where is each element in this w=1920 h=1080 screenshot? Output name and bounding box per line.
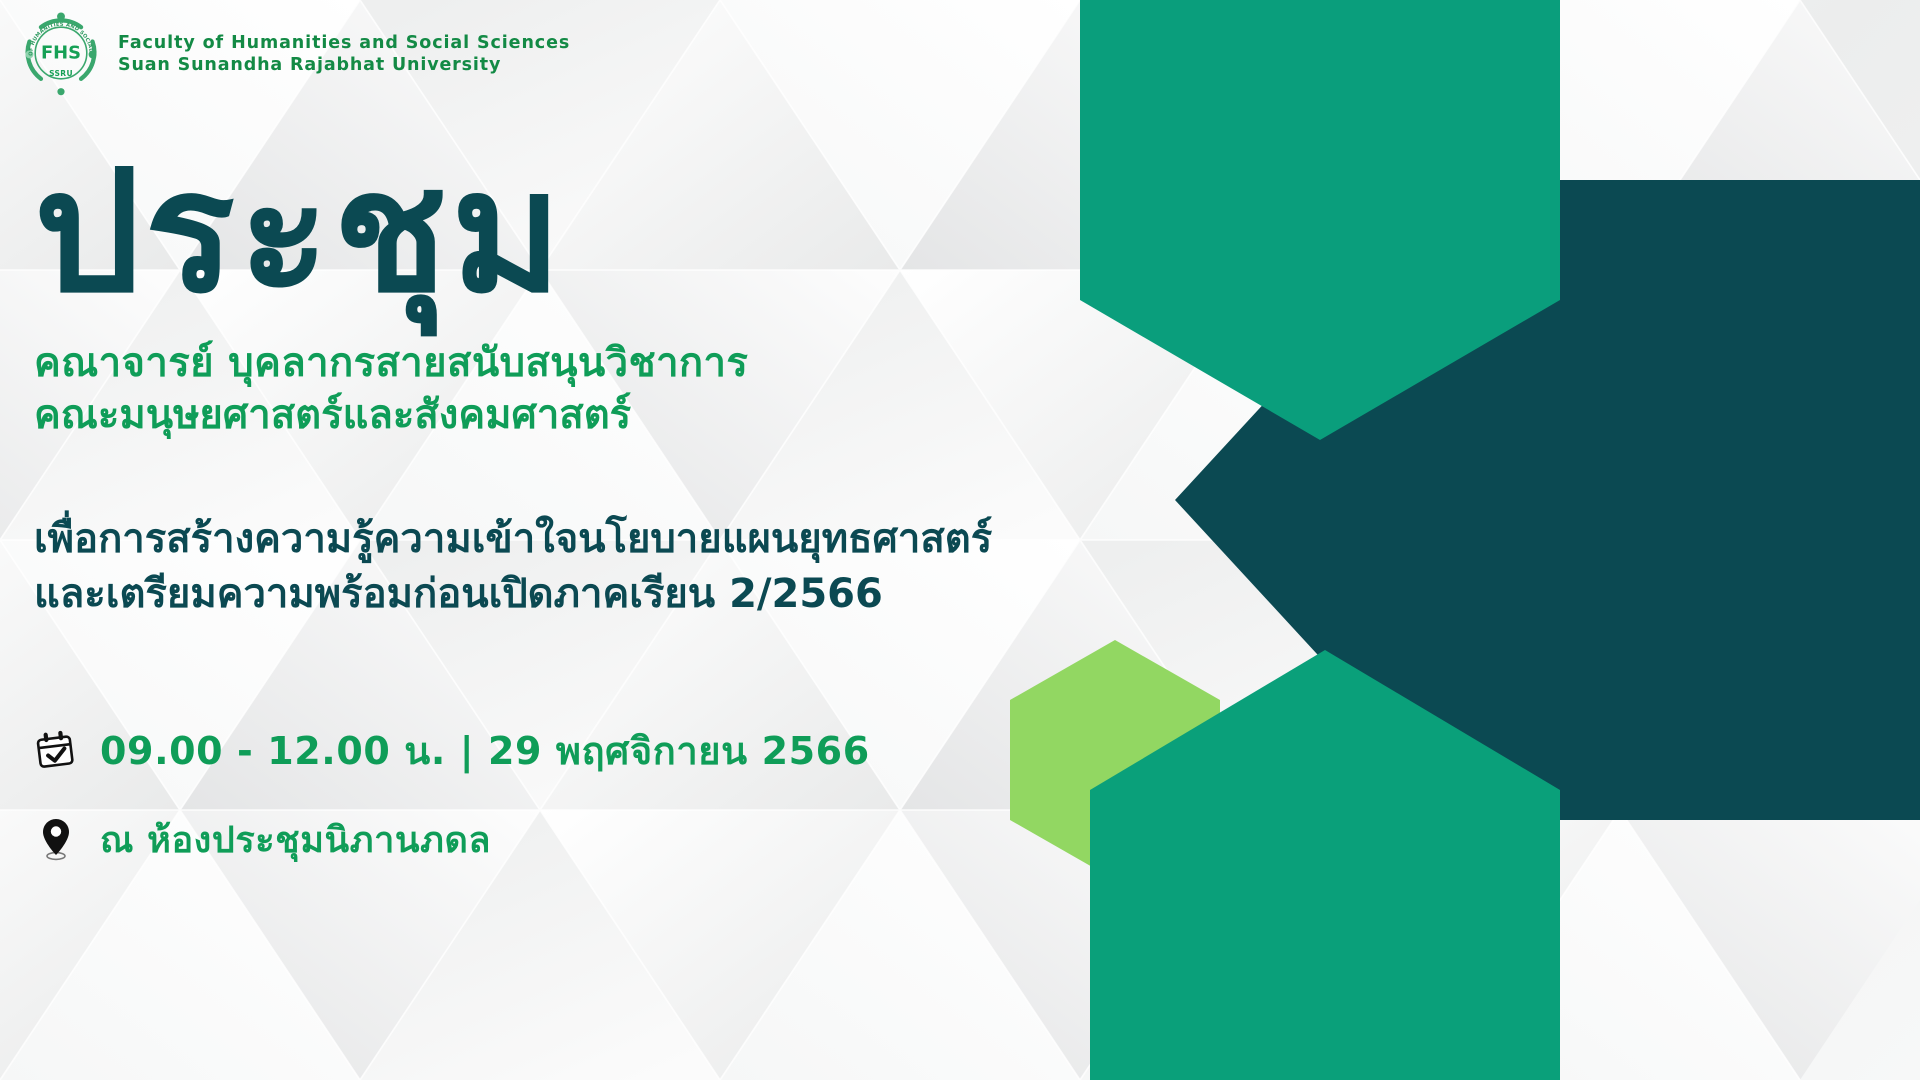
audience-line-2: คณะมนุษยศาสตร์และสังคมศาสตร์ [34,389,1154,442]
calendar-check-icon [34,727,78,773]
datetime-row: 09.00 - 12.00 น. | 29 พฤศจิกายน 2566 [34,720,1154,781]
poster-canvas: FACULTY OF HUMANITIES AND SOCIAL SCIENCE… [0,0,1920,1080]
audience-block: คณาจารย์ บุคลากรสายสนับสนุนวิชาการ คณะมน… [34,337,1154,443]
map-pin-icon [34,816,78,862]
location-row: ณ ห้องประชุมนิภานภดล [34,811,1154,868]
purpose-line-1: เพื่อการสร้างความรู้ความเข้าใจนโยบายแผนย… [34,512,1154,567]
event-datetime: 09.00 - 12.00 น. | 29 พฤศจิกายน 2566 [100,720,870,781]
fhs-logo-icon: FACULTY OF HUMANITIES AND SOCIAL SCIENCE… [18,10,104,96]
university-name: Suan Sunandha Rajabhat University [118,54,570,76]
page-title: ประชุม [34,150,1154,315]
faculty-name: Faculty of Humanities and Social Science… [118,32,570,54]
event-location: ณ ห้องประชุมนิภานภดล [100,811,491,868]
svg-text:SSRU: SSRU [49,69,73,78]
purpose-block: เพื่อการสร้างความรู้ความเข้าใจนโยบายแผนย… [34,512,1154,622]
org-name-block: Faculty of Humanities and Social Science… [118,30,570,77]
event-meta-block: 09.00 - 12.00 น. | 29 พฤศจิกายน 2566 ณ ห… [34,720,1154,868]
brand-header: FACULTY OF HUMANITIES AND SOCIAL SCIENCE… [18,10,570,96]
purpose-line-2: และเตรียมความพร้อมก่อนเปิดภาคเรียน 2/256… [34,567,1154,622]
audience-line-1: คณาจารย์ บุคลากรสายสนับสนุนวิชาการ [34,337,1154,390]
main-content: ประชุม คณาจารย์ บุคลากรสายสนับสนุนวิชากา… [34,150,1154,898]
svg-text:FHS: FHS [41,43,81,64]
